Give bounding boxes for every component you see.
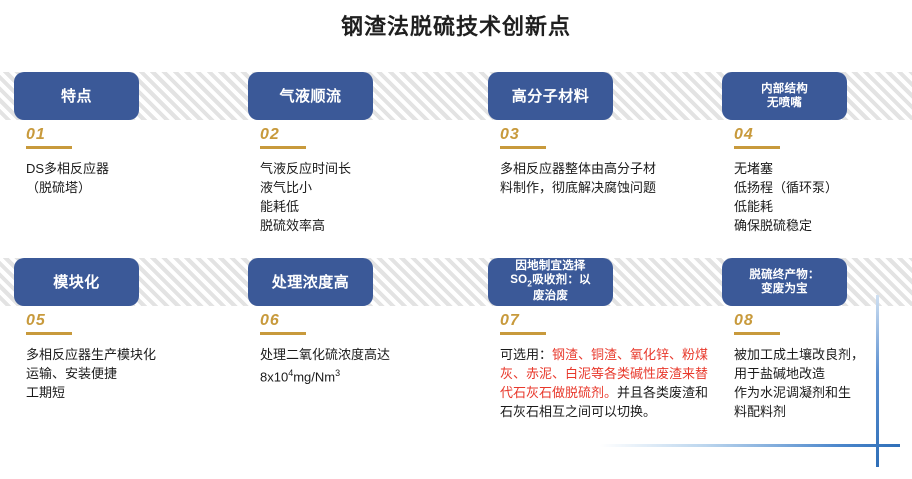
- card-number-wrap-03: 03: [500, 126, 714, 149]
- card-body-04: 无堵塞 低扬程（循环泵） 低能耗 确保脱硫稳定: [734, 159, 898, 235]
- page-title: 钢渣法脱硫技术创新点: [0, 12, 912, 42]
- card-number-wrap-04: 04: [734, 126, 898, 149]
- card-number-rule-04: [734, 146, 780, 149]
- feature-card-03[interactable]: 高分子材料 03 多相反应器整体由高分子材 料制作，彻底解决腐蚀问题: [488, 72, 714, 197]
- pill-07-line3: 废治废: [533, 290, 568, 302]
- card-number-rule-05: [26, 332, 72, 335]
- card-number-03: 03: [500, 126, 714, 144]
- feature-card-01[interactable]: 特点 01 DS多相反应器 （脱硫塔）: [14, 72, 240, 197]
- card-number-rule-02: [260, 146, 306, 149]
- decorative-vertical-line: [876, 295, 879, 467]
- card-body-02: 气液反应时间长 液气比小 能耗低 脱硫效率高: [260, 159, 474, 235]
- card-number-01: 01: [26, 126, 240, 144]
- card-heading-pill-07-text: 因地制宜选择SO2吸收剂：以废治废: [510, 260, 590, 304]
- card-body-08: 被加工成土壤改良剂， 用于盐碱地改造 作为水泥调凝剂和生 料配料剂: [734, 345, 898, 421]
- card-number-wrap-06: 06: [260, 312, 474, 335]
- card-number-rule-08: [734, 332, 780, 335]
- card-number-rule-07: [500, 332, 546, 335]
- card-number-wrap-02: 02: [260, 126, 474, 149]
- feature-card-05[interactable]: 模块化 05 多相反应器生产模块化 运输、安装便捷 工期短: [14, 258, 240, 402]
- card-body-06-sup2: 3: [335, 368, 340, 378]
- card-number-wrap-01: 01: [26, 126, 240, 149]
- card-number-04: 04: [734, 126, 898, 144]
- feature-card-02[interactable]: 气液顺流 02 气液反应时间长 液气比小 能耗低 脱硫效率高: [248, 72, 474, 235]
- card-heading-pill-08[interactable]: 脱硫终产物：变废为宝: [722, 258, 847, 306]
- decorative-horizontal-line: [600, 444, 900, 447]
- card-body-01: DS多相反应器 （脱硫塔）: [26, 159, 240, 197]
- card-body-05: 多相反应器生产模块化 运输、安装便捷 工期短: [26, 345, 240, 402]
- card-body-06-mid: mg/Nm: [293, 369, 335, 384]
- card-number-rule-01: [26, 146, 72, 149]
- card-number-07: 07: [500, 312, 714, 330]
- card-number-06: 06: [260, 312, 474, 330]
- card-number-wrap-07: 07: [500, 312, 714, 335]
- card-body-07: 可选用：钢渣、铜渣、氧化锌、粉煤灰、赤泥、白泥等各类碱性废渣来替代石灰石做脱硫剂…: [500, 345, 714, 421]
- card-body-03: 多相反应器整体由高分子材 料制作，彻底解决腐蚀问题: [500, 159, 714, 197]
- card-number-wrap-05: 05: [26, 312, 240, 335]
- pill-07-line1: 因地制宜选择: [515, 260, 585, 272]
- card-row-2: 模块化 05 多相反应器生产模块化 运输、安装便捷 工期短 处理浓度高 06 处…: [0, 258, 912, 438]
- card-heading-pill-05[interactable]: 模块化: [14, 258, 139, 306]
- card-row-1: 特点 01 DS多相反应器 （脱硫塔） 气液顺流 02 气液反应时间长 液气比小…: [0, 72, 912, 242]
- card-heading-pill-07[interactable]: 因地制宜选择SO2吸收剂：以废治废: [488, 258, 613, 306]
- card-heading-pill-03[interactable]: 高分子材料: [488, 72, 613, 120]
- card-number-rule-03: [500, 146, 546, 149]
- card-heading-pill-01[interactable]: 特点: [14, 72, 139, 120]
- card-number-05: 05: [26, 312, 240, 330]
- feature-card-08[interactable]: 脱硫终产物：变废为宝 08 被加工成土壤改良剂， 用于盐碱地改造 作为水泥调凝剂…: [722, 258, 898, 421]
- card-body-06: 处理二氧化硫浓度高达 8x104mg/Nm3: [260, 345, 474, 386]
- card-number-08: 08: [734, 312, 898, 330]
- feature-card-06[interactable]: 处理浓度高 06 处理二氧化硫浓度高达 8x104mg/Nm3: [248, 258, 474, 386]
- card-heading-pill-06[interactable]: 处理浓度高: [248, 258, 373, 306]
- card-number-02: 02: [260, 126, 474, 144]
- feature-card-07[interactable]: 因地制宜选择SO2吸收剂：以废治废 07 可选用：钢渣、铜渣、氧化锌、粉煤灰、赤…: [488, 258, 714, 421]
- card-heading-pill-02[interactable]: 气液顺流: [248, 72, 373, 120]
- pill-07-line2-pre: SO: [510, 274, 527, 286]
- card-body-07-pre: 可选用：: [500, 347, 552, 362]
- card-number-rule-06: [260, 332, 306, 335]
- pill-07-line2-post: 吸收剂：以: [532, 274, 591, 286]
- card-number-wrap-08: 08: [734, 312, 898, 335]
- card-heading-pill-04[interactable]: 内部结构无喷嘴: [722, 72, 847, 120]
- feature-card-04[interactable]: 内部结构无喷嘴 04 无堵塞 低扬程（循环泵） 低能耗 确保脱硫稳定: [722, 72, 898, 235]
